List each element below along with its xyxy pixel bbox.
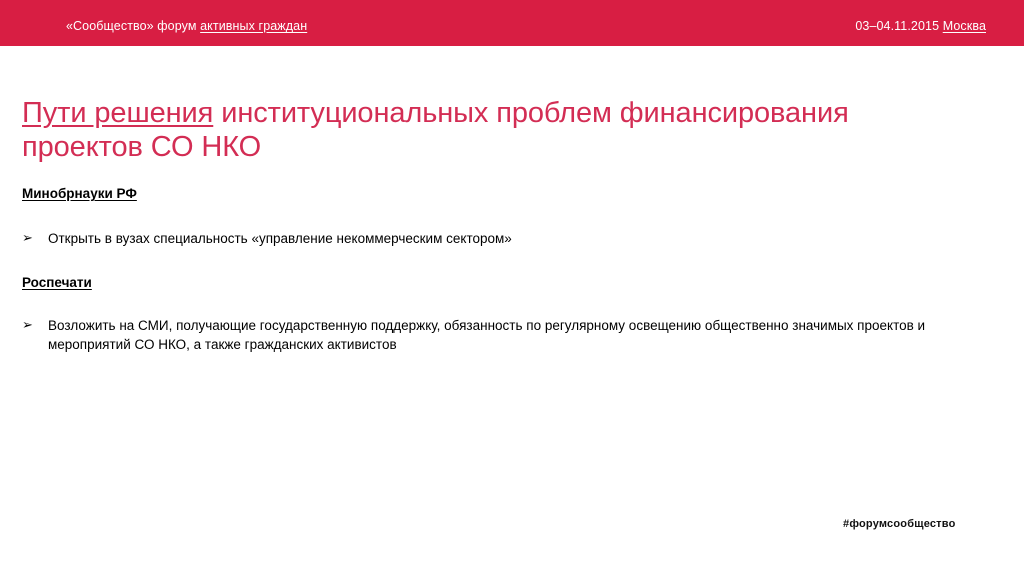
- slide: «Сообщество» форум активных граждан 03–0…: [0, 0, 1024, 574]
- section-heading-rospechati: Роспечати: [22, 275, 997, 290]
- page-title-underlined: Пути решения: [22, 97, 213, 129]
- header-event-title-underlined: активных граждан: [200, 19, 307, 33]
- spacer: [22, 290, 997, 316]
- header-date-location: 03–04.11.2015 Москва: [855, 19, 986, 33]
- header-band: «Сообщество» форум активных граждан 03–0…: [0, 0, 1024, 46]
- header-event-title: «Сообщество» форум активных граждан: [66, 19, 307, 33]
- spacer: [22, 249, 997, 275]
- header-event-title-prefix: «Сообщество» форум: [66, 19, 200, 33]
- list-item-text: Возложить на СМИ, получающие государстве…: [48, 316, 997, 355]
- arrow-bullet-icon: ➢: [22, 229, 48, 248]
- list-item-text: Открыть в вузах специальность «управлени…: [48, 229, 997, 249]
- header-city: Москва: [943, 19, 986, 33]
- section-heading-minobrnauki: Минобрнауки РФ: [22, 186, 997, 201]
- list-item: ➢ Открыть в вузах специальность «управле…: [22, 229, 997, 249]
- spacer: [22, 201, 997, 229]
- header-date: 03–04.11.2015: [855, 19, 939, 33]
- footer-hashtag: #форумсообщество: [843, 518, 956, 530]
- arrow-bullet-icon: ➢: [22, 316, 48, 335]
- content-body: Минобрнауки РФ ➢ Открыть в вузах специал…: [22, 186, 997, 355]
- page-title: Пути решения институциональных проблем ф…: [22, 97, 952, 164]
- list-item: ➢ Возложить на СМИ, получающие государст…: [22, 316, 997, 355]
